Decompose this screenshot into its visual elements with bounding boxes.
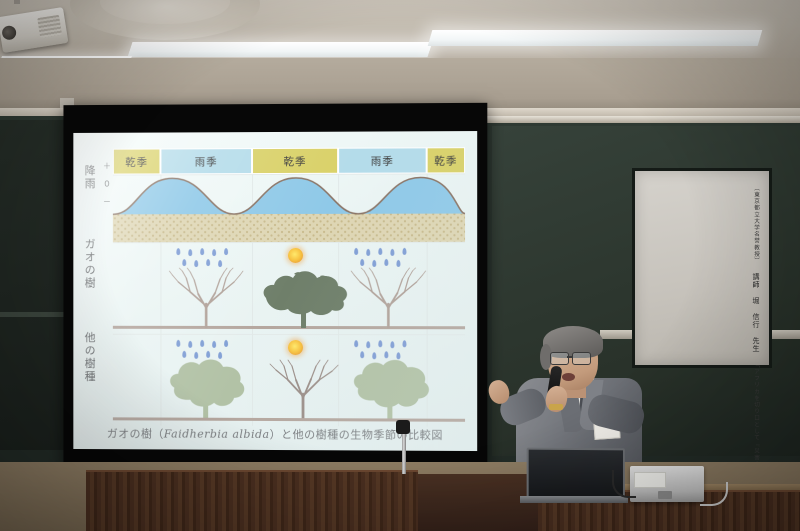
tree-gao-wet-1-bare [168, 266, 244, 332]
axis-minus: － [103, 198, 111, 206]
caption-species: Faidherbia albida [164, 428, 270, 441]
sun-icon-other-dry [288, 340, 303, 355]
axis-plus: ＋ [103, 163, 111, 171]
microphone-stand [402, 428, 406, 474]
presentation-slide: 降雨 ガオの樹 他の樹種 ＋ ０ － 乾季 雨季 乾季 雨季 乾季 [73, 131, 477, 451]
laptop-screen[interactable] [527, 448, 625, 503]
ceiling-light-1 [128, 42, 433, 57]
season-header-2: 乾季 [252, 148, 338, 174]
lecture-hall-photo: （東京都立大学名誉教授） 講師 堀 信行 先生 「アフリカを切り口として『災害文… [0, 0, 800, 531]
speaker-glasses-bridge [567, 356, 572, 358]
slide-caption: ガオの樹（Faidherbia albida）と他の樹種の生物季節の比較図 [73, 425, 477, 443]
axis-zero: ０ [103, 181, 111, 189]
season-header-0: 乾季 [113, 148, 161, 174]
caption-pre: ガオの樹（ [107, 427, 164, 440]
rainfall-curve [113, 173, 465, 242]
ceiling-light-2 [428, 30, 763, 46]
tree-other-wet-1-leafy [164, 354, 248, 422]
speaker-glasses-left [550, 352, 569, 365]
event-poster: （東京都立大学名誉教授） 講師 堀 信行 先生 「アフリカを切り口として『災害文… [632, 168, 772, 368]
projection-screen-frame: 降雨 ガオの樹 他の樹種 ＋ ０ － 乾季 雨季 乾季 雨季 乾季 [63, 103, 487, 469]
season-header-1: 雨季 [160, 148, 252, 174]
chart-grid: 乾季 雨季 乾季 雨季 乾季 [113, 147, 465, 421]
projector-lens-icon [1, 25, 17, 41]
av-device-label [634, 472, 666, 488]
poster-text-block: （東京都立大学名誉教授） 講師 堀 信行 先生 「アフリカを切り口として『災害文… [750, 185, 759, 355]
speaker-mouth [562, 373, 575, 381]
projector-mount-arm [14, 0, 20, 4]
tree-gao-dry-leafy [258, 260, 350, 332]
poster-line-5: （東京都立大学名誉教授） [750, 185, 759, 264]
tree-other-wet-2-leafy [348, 354, 433, 423]
projector-vent-icon [37, 15, 62, 38]
row-label-rain: 降雨 [81, 165, 97, 191]
season-header-3: 雨季 [338, 147, 427, 173]
row-label-other: 他の樹種 [81, 332, 97, 384]
laptop-base[interactable] [520, 496, 628, 503]
poster-line-4: 講師 堀 信行 先生 [750, 273, 759, 353]
season-header-4: 乾季 [427, 147, 465, 173]
tree-other-dry-bare [264, 358, 342, 422]
tree-gao-wet-2-bare [350, 266, 427, 332]
av-device-button[interactable] [658, 491, 672, 499]
podium [86, 470, 418, 531]
microphone-head-icon [396, 420, 410, 434]
av-device[interactable] [630, 466, 704, 502]
speaker-wristwatch [549, 404, 563, 410]
caption-post: ）と他の樹種の生物季節の比較図 [270, 428, 443, 442]
row-label-gao: ガオの樹 [81, 238, 97, 290]
projection-screen: 降雨 ガオの樹 他の樹種 ＋ ０ － 乾季 雨季 乾季 雨季 乾季 [73, 131, 477, 451]
speaker-glasses-right [572, 352, 591, 365]
